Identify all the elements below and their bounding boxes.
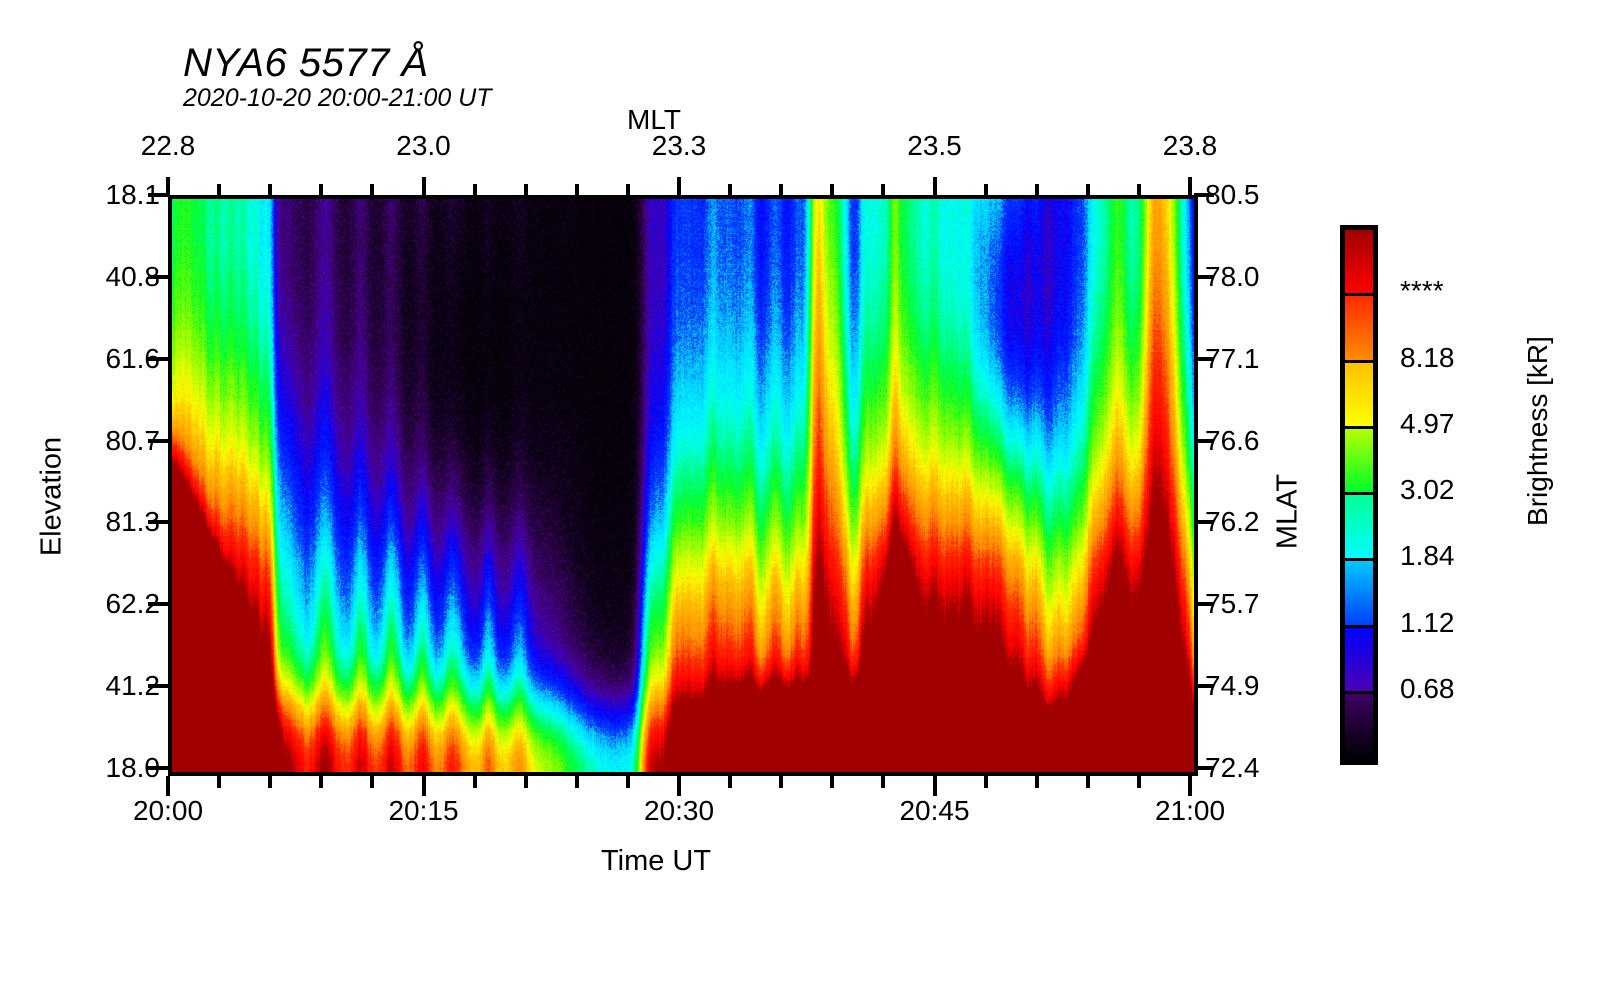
top-tick-major-4	[1188, 177, 1192, 195]
top-tick-minor-17	[1035, 184, 1039, 195]
top-tick-minor-6	[473, 184, 477, 195]
colorbar-label-6: 0.68	[1400, 673, 1455, 705]
top-tick-minor-8	[575, 184, 579, 195]
top-tick-minor-19	[1137, 184, 1141, 195]
colorbar-label-2: 4.97	[1400, 408, 1455, 440]
colorbar-label-5: 1.12	[1400, 607, 1455, 639]
title-block: NYA6 5577 Å 2020-10-20 20:00-21:00 UT	[183, 42, 492, 111]
colorbar-segment-4	[1345, 495, 1373, 561]
top-tick-label-2: 23.3	[652, 130, 707, 162]
colorbar-segment-2	[1345, 363, 1373, 429]
page-subtitle: 2020-10-20 20:00-21:00 UT	[183, 85, 492, 111]
colorbar-label-0: ****	[1400, 275, 1444, 307]
top-tick-label-0: 22.8	[141, 130, 196, 162]
top-tick-minor-18	[1086, 184, 1090, 195]
left-tick-major-0	[148, 193, 168, 197]
brightness-colorbar	[1340, 225, 1378, 765]
top-tick-minor-16	[984, 184, 988, 195]
top-tick-minor-9	[626, 184, 630, 195]
colorbar-label-4: 1.84	[1400, 540, 1455, 572]
left-tick-major-4	[148, 520, 168, 524]
top-tick-minor-2	[268, 184, 272, 195]
top-tick-minor-7	[524, 184, 528, 195]
top-tick-minor-14	[881, 184, 885, 195]
right-axis-title: MLAT	[1272, 432, 1305, 592]
top-tick-minor-12	[779, 184, 783, 195]
keogram-image	[172, 199, 1194, 772]
bottom-tick-label-2: 20:30	[644, 795, 714, 827]
bottom-tick-minor-13	[830, 776, 834, 788]
top-tick-minor-13	[830, 184, 834, 195]
left-tick-major-6	[148, 684, 168, 688]
colorbar-label-3: 3.02	[1400, 474, 1455, 506]
bottom-axis-title: Time UT	[601, 845, 711, 878]
colorbar-segment-7	[1345, 694, 1373, 760]
top-tick-minor-4	[370, 184, 374, 195]
bottom-tick-minor-8	[575, 776, 579, 788]
bottom-tick-minor-7	[524, 776, 528, 788]
top-tick-major-2	[677, 177, 681, 195]
bottom-tick-minor-12	[779, 776, 783, 788]
bottom-tick-major-1	[422, 776, 426, 796]
bottom-tick-minor-9	[626, 776, 630, 788]
top-tick-label-3: 23.5	[907, 130, 962, 162]
bottom-tick-minor-14	[881, 776, 885, 788]
bottom-tick-minor-3	[319, 776, 323, 788]
top-tick-label-1: 23.0	[396, 130, 451, 162]
left-tick-major-5	[148, 602, 168, 606]
keogram-plot-area	[168, 195, 1198, 776]
colorbar-segment-6	[1345, 628, 1373, 694]
bottom-tick-minor-4	[370, 776, 374, 788]
bottom-tick-label-4: 21:00	[1155, 795, 1225, 827]
colorbar-axis-title: Brightness [kR]	[1522, 281, 1554, 581]
bottom-tick-minor-19	[1137, 776, 1141, 788]
top-tick-major-1	[422, 177, 426, 195]
left-tick-major-1	[148, 275, 168, 279]
top-tick-minor-11	[728, 184, 732, 195]
left-tick-major-7	[148, 766, 168, 770]
bottom-tick-minor-1	[217, 776, 221, 788]
page-title: NYA6 5577 Å	[183, 42, 492, 84]
left-tick-major-2	[148, 357, 168, 361]
bottom-tick-minor-2	[268, 776, 272, 788]
bottom-tick-major-3	[933, 776, 937, 796]
bottom-tick-label-0: 20:00	[133, 795, 203, 827]
bottom-tick-minor-11	[728, 776, 732, 788]
bottom-tick-minor-6	[473, 776, 477, 788]
top-tick-minor-1	[217, 184, 221, 195]
colorbar-segment-0	[1345, 230, 1373, 296]
colorbar-segment-1	[1345, 296, 1373, 362]
colorbar-label-1: 8.18	[1400, 342, 1455, 374]
left-axis-title: Elevation	[36, 397, 69, 597]
bottom-tick-label-1: 20:15	[388, 795, 458, 827]
top-tick-minor-3	[319, 184, 323, 195]
colorbar-segment-5	[1345, 561, 1373, 627]
bottom-tick-major-0	[166, 776, 170, 796]
bottom-tick-minor-18	[1086, 776, 1090, 788]
bottom-tick-label-3: 20:45	[899, 795, 969, 827]
top-tick-label-4: 23.8	[1163, 130, 1218, 162]
bottom-tick-major-2	[677, 776, 681, 796]
left-tick-major-3	[148, 439, 168, 443]
bottom-tick-minor-17	[1035, 776, 1039, 788]
bottom-tick-major-4	[1188, 776, 1192, 796]
colorbar-segment-3	[1345, 429, 1373, 495]
bottom-tick-minor-16	[984, 776, 988, 788]
top-tick-major-3	[933, 177, 937, 195]
